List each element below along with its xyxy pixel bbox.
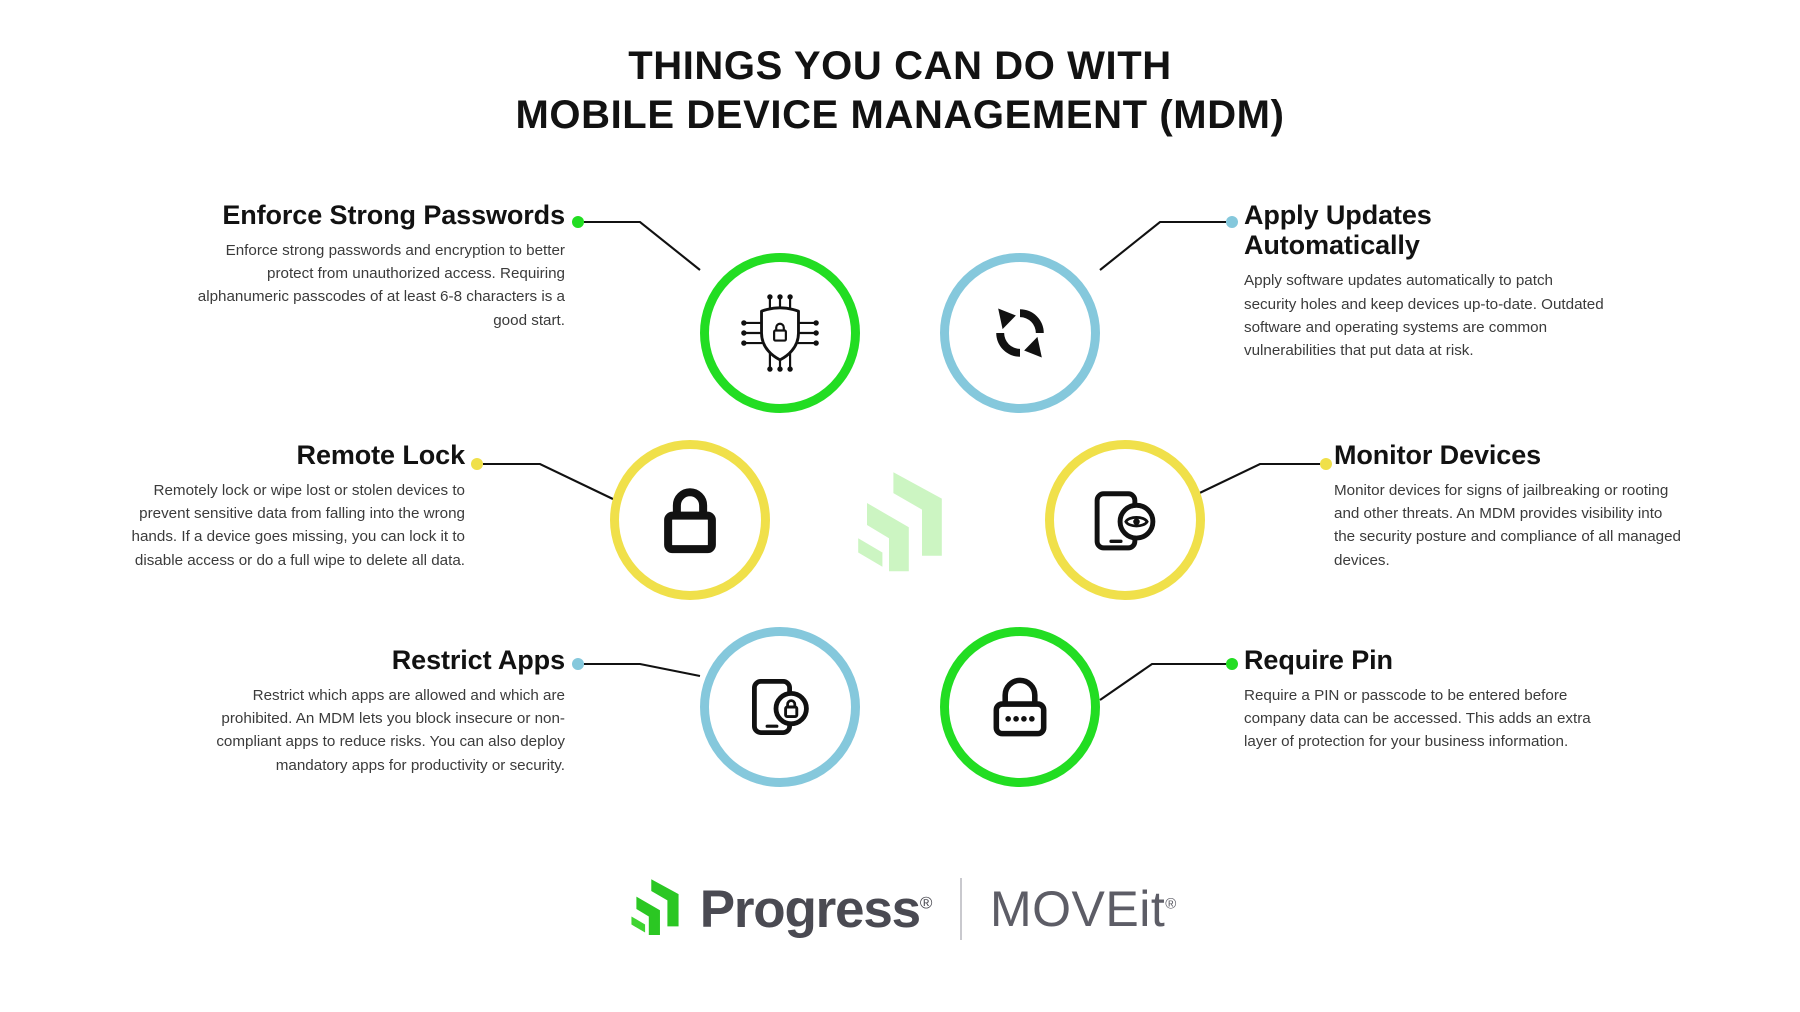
connector-dot-monitor-devices [1320,458,1332,470]
phone-eye-icon [1084,479,1166,561]
item-restrict-apps: Restrict Apps Restrict which apps are al… [180,645,565,777]
connector-dot-require-pin [1226,658,1238,670]
title-line-1: THINGS YOU CAN DO WITH [0,42,1800,91]
item-apply-updates-automatically: Apply Updates Automatically Apply softwa… [1244,200,1604,362]
padlock-pin-dots-icon [983,670,1057,744]
item-title-enforce-strong-passwords: Enforce Strong Passwords [190,200,565,230]
progress-arrow-logo-icon [624,878,686,940]
connector-monitor-devices [1185,464,1320,500]
connector-dot-apply-updates-automatically [1226,216,1238,228]
icon-circle-monitor-devices [1045,440,1205,600]
item-body-apply-updates-automatically: Apply software updates automatically to … [1244,269,1604,361]
item-body-enforce-strong-passwords: Enforce strong passwords and encryption … [190,239,565,331]
moveit-wordmark: MOVEit® [990,880,1176,938]
item-require-pin: Require Pin Require a PIN or passcode to… [1244,645,1599,754]
footer-divider [960,878,962,940]
progress-watermark-logo [843,470,957,580]
icon-circle-apply-updates-automatically [940,253,1100,413]
item-title-apply-updates-automatically: Apply Updates Automatically [1244,200,1604,260]
icon-circle-restrict-apps [700,627,860,787]
moveit-wordmark-text: MOVEit [990,881,1165,937]
item-body-remote-lock: Remotely lock or wipe lost or stolen dev… [120,479,465,571]
item-monitor-devices: Monitor Devices Monitor devices for sign… [1334,440,1684,572]
connector-dot-remote-lock [471,458,483,470]
sync-refresh-icon [987,300,1053,366]
progress-registered-mark: ® [920,893,933,912]
title-line-2: MOBILE DEVICE MANAGEMENT (MDM) [0,91,1800,140]
phone-lock-icon [740,667,820,747]
connector-restrict-apps [584,664,700,676]
shield-circuit-lock-icon [738,291,822,375]
moveit-registered-mark: ® [1165,895,1176,912]
connector-remote-lock [483,464,615,500]
footer-branding: Progress® MOVEit® [0,878,1800,940]
item-title-restrict-apps: Restrict Apps [180,645,565,675]
connector-enforce-strong-passwords [584,222,700,270]
connector-dot-restrict-apps [572,658,584,670]
item-body-restrict-apps: Restrict which apps are allowed and whic… [180,684,565,776]
progress-wordmark-text: Progress [700,880,920,939]
item-remote-lock: Remote Lock Remotely lock or wipe lost o… [120,440,465,572]
item-enforce-strong-passwords: Enforce Strong Passwords Enforce strong … [190,200,565,332]
connector-require-pin [1100,664,1226,700]
connector-apply-updates-automatically [1100,222,1226,270]
padlock-icon [659,485,721,555]
item-title-require-pin: Require Pin [1244,645,1599,675]
icon-circle-remote-lock [610,440,770,600]
page-title: THINGS YOU CAN DO WITH MOBILE DEVICE MAN… [0,42,1800,140]
icon-circle-require-pin [940,627,1100,787]
item-title-monitor-devices: Monitor Devices [1334,440,1684,470]
item-body-require-pin: Require a PIN or passcode to be entered … [1244,684,1599,753]
connector-dot-enforce-strong-passwords [572,216,584,228]
item-body-monitor-devices: Monitor devices for signs of jailbreakin… [1334,479,1684,571]
icon-circle-enforce-strong-passwords [700,253,860,413]
progress-wordmark: Progress® [700,879,933,940]
progress-logo: Progress® [624,878,933,940]
item-title-remote-lock: Remote Lock [120,440,465,470]
